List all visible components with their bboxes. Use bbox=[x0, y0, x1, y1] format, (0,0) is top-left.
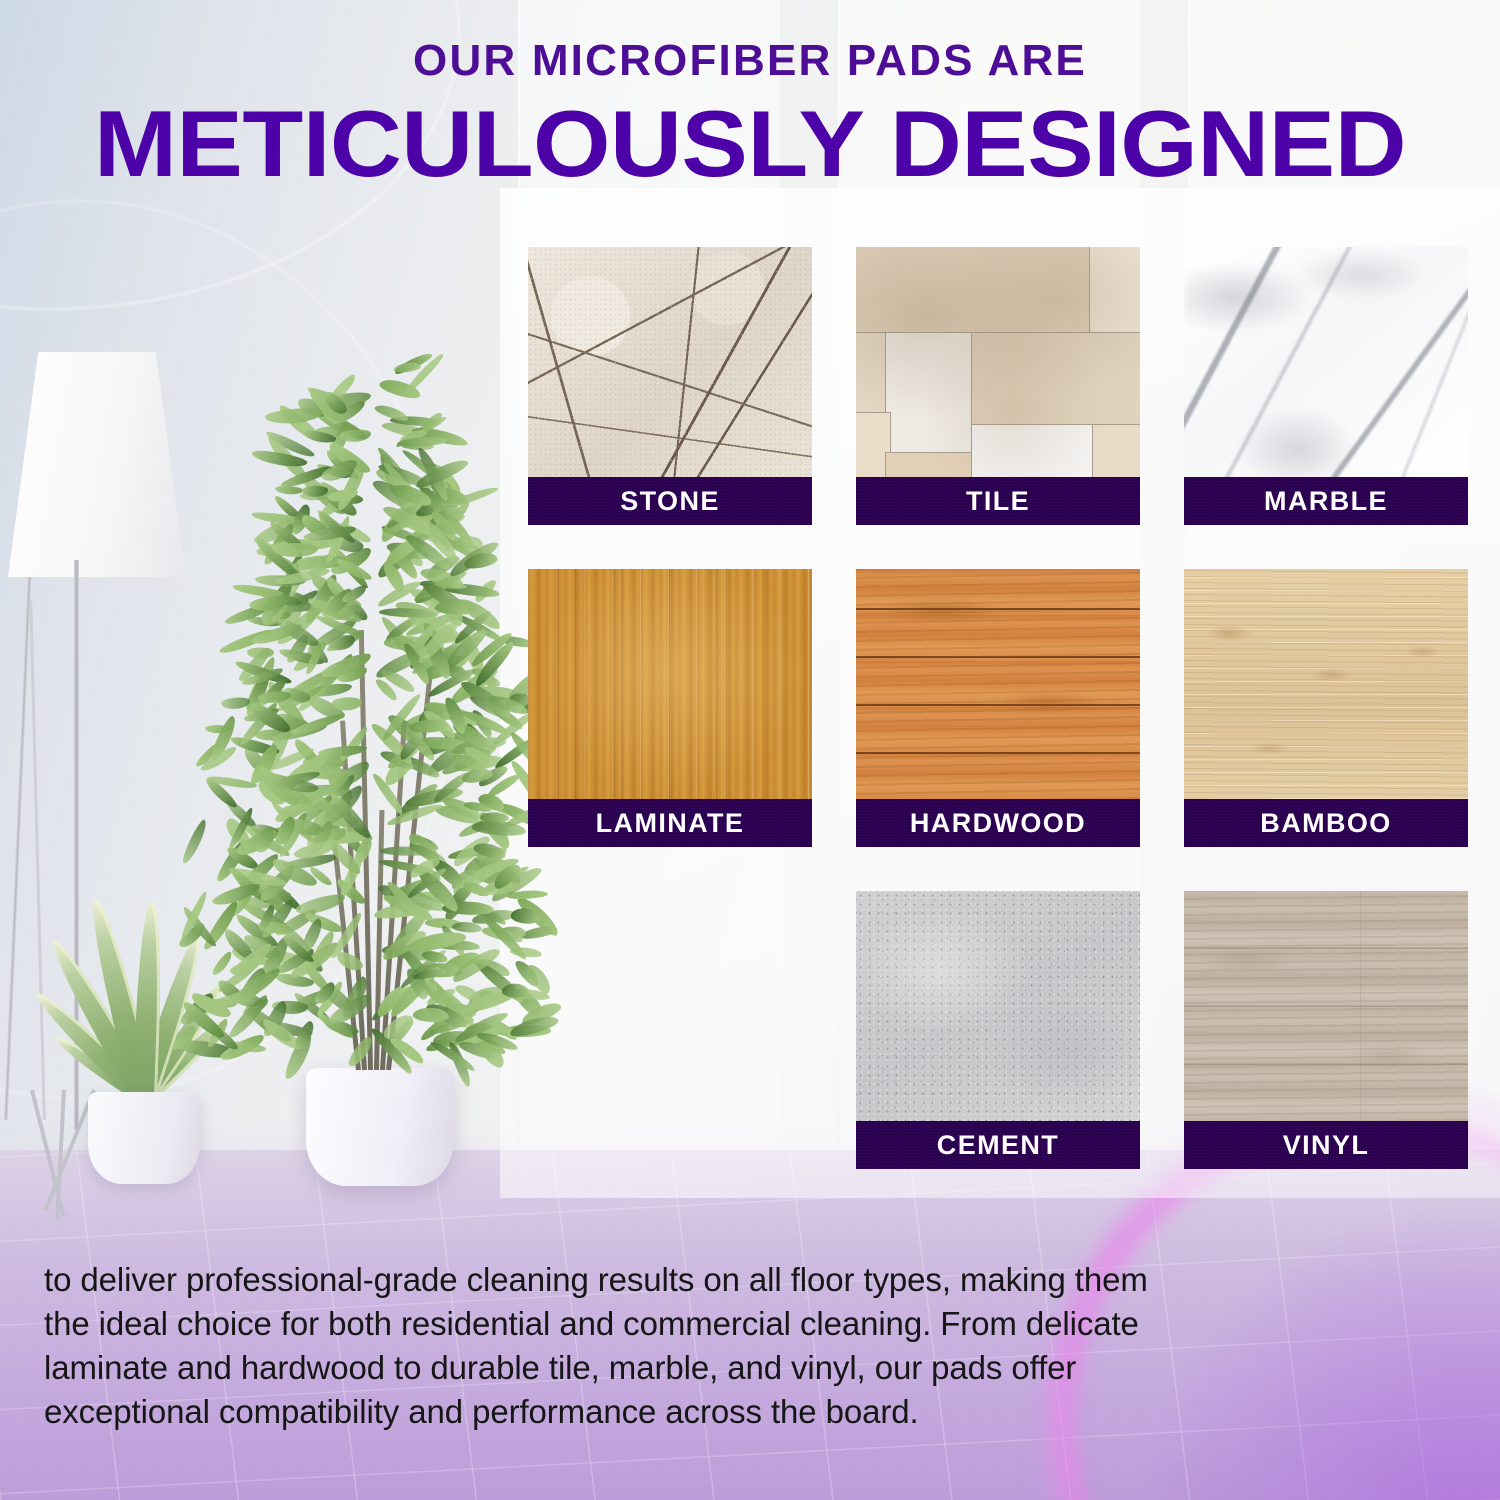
floor-type-card-stone[interactable]: STONE bbox=[528, 247, 812, 525]
floor-type-card-bamboo[interactable]: BAMBOO bbox=[1184, 569, 1468, 847]
floor-type-label-vinyl: VINYL bbox=[1184, 1121, 1468, 1169]
floor-type-label-cement: CEMENT bbox=[856, 1121, 1140, 1169]
tile-piece bbox=[856, 247, 1092, 333]
tile-piece bbox=[972, 425, 1092, 477]
ficus-leaf bbox=[332, 697, 362, 711]
tile-piece bbox=[1090, 425, 1140, 477]
tile-piece bbox=[856, 413, 890, 477]
floor-type-card-marble[interactable]: MARBLE bbox=[1184, 247, 1468, 525]
tile-piece bbox=[886, 453, 972, 477]
floor-type-grid: STONETILEMARBLELAMINATEHARDWOODBAMBOOCEM… bbox=[528, 247, 1464, 1169]
floor-type-label-bamboo: BAMBOO bbox=[1184, 799, 1468, 847]
floor-type-card-tile[interactable]: TILE bbox=[856, 247, 1140, 525]
ficus-tree-pot bbox=[306, 1068, 454, 1186]
floor-type-label-stone: STONE bbox=[528, 477, 812, 525]
texture-swatch-marble bbox=[1184, 247, 1468, 477]
headline-subtitle: OUR MICROFIBER PADS ARE bbox=[0, 38, 1500, 84]
floor-type-label-tile: TILE bbox=[856, 477, 1140, 525]
ficus-tree bbox=[196, 318, 564, 1198]
ficus-leaf bbox=[393, 361, 421, 374]
floor-lamp-shade bbox=[8, 352, 186, 577]
floor-type-card-laminate[interactable]: LAMINATE bbox=[528, 569, 812, 847]
infographic-page: OUR MICROFIBER PADS ARE METICULOUSLY DES… bbox=[0, 0, 1500, 1500]
tile-piece bbox=[1090, 247, 1140, 333]
texture-swatch-tile bbox=[856, 247, 1140, 477]
ficus-leaf bbox=[501, 983, 529, 998]
texture-swatch-laminate bbox=[528, 569, 812, 799]
headline-block: OUR MICROFIBER PADS ARE METICULOUSLY DES… bbox=[0, 38, 1500, 192]
floor-type-label-laminate: LAMINATE bbox=[528, 799, 812, 847]
headline-title: METICULOUSLY DESIGNED bbox=[0, 96, 1500, 192]
floor-type-label-marble: MARBLE bbox=[1184, 477, 1468, 525]
ficus-leaf bbox=[210, 950, 234, 978]
ficus-leaf bbox=[265, 406, 324, 425]
snake-plant-pot bbox=[88, 1092, 200, 1184]
tile-piece bbox=[972, 333, 1140, 427]
body-paragraph: to deliver professional-grade cleaning r… bbox=[44, 1258, 1164, 1434]
tile-piece bbox=[856, 333, 888, 415]
floor-type-card-cement[interactable]: CEMENT bbox=[856, 891, 1140, 1169]
texture-swatch-cement bbox=[856, 891, 1140, 1121]
texture-swatch-vinyl bbox=[1184, 891, 1468, 1121]
texture-swatch-stone bbox=[528, 247, 812, 477]
floor-type-card-hardwood[interactable]: HARDWOOD bbox=[856, 569, 1140, 847]
floor-type-label-hardwood: HARDWOOD bbox=[856, 799, 1140, 847]
texture-swatch-hardwood bbox=[856, 569, 1140, 799]
floor-type-card-vinyl[interactable]: VINYL bbox=[1184, 891, 1468, 1169]
texture-swatch-bamboo bbox=[1184, 569, 1468, 799]
tile-piece bbox=[886, 333, 974, 455]
